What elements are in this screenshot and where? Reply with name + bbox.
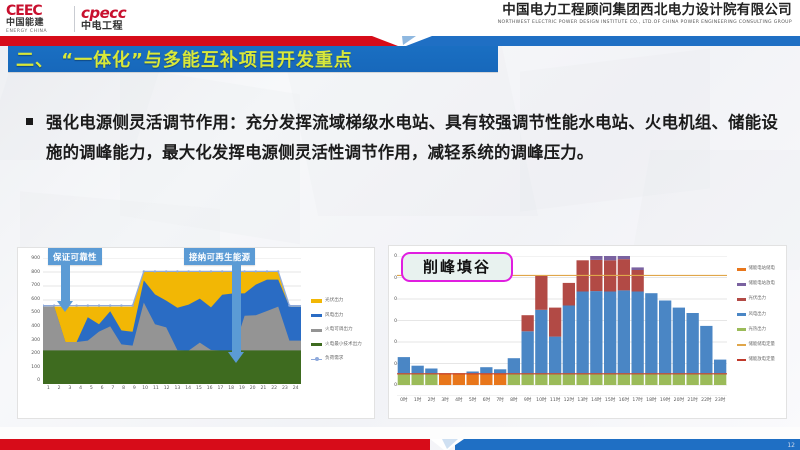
x-tick: 1时 xyxy=(411,398,425,403)
chart-left-x-axis: 1 2 3 4 5 6 7 8 9 10 11 12 13 14 15 16 1… xyxy=(43,386,301,391)
legend-item-discharge-quota: 储能放电定量 xyxy=(737,357,775,363)
x-tick: 18 xyxy=(226,386,237,391)
slide-header: CEEC 中国能建 ENERGY CHINA cpecc 中电工程 中国电力工程… xyxy=(0,0,800,40)
legend-label-charge-quota: 储能储电定量 xyxy=(749,342,775,348)
x-tick: 15 xyxy=(194,386,205,391)
x-tick: 2 xyxy=(54,386,65,391)
organization-name-en: NORTHWEST ELECTRIC POWER DESIGN INSTITUT… xyxy=(498,19,792,27)
bar-group xyxy=(439,373,451,385)
bar-group xyxy=(412,366,424,385)
callout-renewable-arrow-icon xyxy=(228,262,246,362)
x-tick: 8 xyxy=(118,386,129,391)
x-tick: 11时 xyxy=(548,398,562,403)
x-tick: 4时 xyxy=(452,398,466,403)
chart-left-plot xyxy=(43,258,301,384)
chart-right-x-axis: 0时 1时 2时 3时 4时 5时 6时 7时 8时 9时 10时 11时 12… xyxy=(397,398,727,403)
logo-group: CEEC 中国能建 ENERGY CHINA cpecc 中电工程 xyxy=(6,3,126,35)
legend-label-pv: 光伏出力 xyxy=(749,296,767,302)
x-tick: 15时 xyxy=(603,398,617,403)
x-tick: 22时 xyxy=(700,398,714,403)
cpecc-logo: cpecc 中电工程 xyxy=(81,5,126,33)
legend-item-wind: 风电出力 xyxy=(737,312,775,318)
bar-group xyxy=(659,301,671,386)
legend-item-storage-discharge: 储能电站储电 xyxy=(737,266,775,272)
page-number: 12 xyxy=(787,442,795,449)
legend-swatch-load xyxy=(311,359,322,360)
legend-item-csp: 光热出力 xyxy=(737,327,775,333)
legend-item-pv: 光伏出力 xyxy=(311,298,362,304)
callout-reliability-arrow-icon xyxy=(57,262,75,312)
bar-group xyxy=(645,293,657,385)
bar-group xyxy=(577,260,589,385)
legend-label-thermal-min: 火电最小技术出力 xyxy=(325,342,362,348)
footer-left-red xyxy=(0,439,430,450)
cpecc-logo-en: cpecc xyxy=(81,5,126,21)
x-tick: 16时 xyxy=(617,398,631,403)
x-tick: 12 xyxy=(161,386,172,391)
y-tick: 200 xyxy=(20,351,40,365)
ceec-logo-mark: CEEC xyxy=(6,3,68,18)
x-tick: 6 xyxy=(97,386,108,391)
y-tick: 0 xyxy=(385,254,397,276)
square-bullet-icon xyxy=(26,118,33,125)
legend-swatch-pv xyxy=(737,298,746,301)
ribbon-right-blue xyxy=(402,36,800,46)
x-tick: 5 xyxy=(86,386,97,391)
x-tick: 23时 xyxy=(713,398,727,403)
footer-right-blue xyxy=(455,439,800,450)
slide-footer: 12 xyxy=(0,436,800,450)
y-tick: 700 xyxy=(20,283,40,297)
legend-item-charge-quota: 储能储电定量 xyxy=(737,342,775,348)
y-tick: 500 xyxy=(20,310,40,324)
x-tick: 20时 xyxy=(672,398,686,403)
x-tick: 17 xyxy=(215,386,226,391)
x-tick: 1 xyxy=(43,386,54,391)
ribbon-left-red xyxy=(0,36,402,46)
x-tick: 23 xyxy=(280,386,291,391)
bar-group xyxy=(535,275,547,385)
chart-right-title-tag: 削峰填谷 xyxy=(401,252,513,282)
bullet-paragraph: 强化电源侧灵活调节作用：充分发挥流域梯级水电站、具有较强调节性能水电站、火电机组… xyxy=(26,108,778,168)
ceec-logo: CEEC 中国能建 ENERGY CHINA xyxy=(6,3,68,35)
bar-group xyxy=(508,358,520,385)
x-tick: 10时 xyxy=(535,398,549,403)
y-tick: 0 xyxy=(385,319,397,341)
bar-group xyxy=(425,369,437,386)
y-tick: 0 xyxy=(385,276,397,298)
x-tick: 11 xyxy=(151,386,162,391)
chart-right-y-axis: 0 0 0 0 0 0 0 xyxy=(385,254,397,405)
x-tick: 17时 xyxy=(631,398,645,403)
legend-item-thermal-min: 火电最小技术出力 xyxy=(311,342,362,348)
bar-group xyxy=(453,373,465,385)
x-tick: 13 xyxy=(172,386,183,391)
legend-label-thermal-adj: 火电可调出力 xyxy=(325,327,353,333)
legend-label-load: 负荷需求 xyxy=(325,356,343,362)
x-tick: 12时 xyxy=(562,398,576,403)
x-tick: 16 xyxy=(204,386,215,391)
x-tick: 21 xyxy=(258,386,269,391)
legend-swatch-thermal-min xyxy=(311,343,322,346)
legend-swatch-csp xyxy=(737,328,746,331)
legend-swatch-storage-peak xyxy=(737,283,746,286)
y-tick: 0 xyxy=(20,378,40,392)
x-tick: 10 xyxy=(140,386,151,391)
chart-right-legend: 储能电站储电 储能电站放电 光伏出力 风电出力 光热出力 储能储电定量 xyxy=(737,266,775,372)
legend-label-pv: 光伏出力 xyxy=(325,298,343,304)
ceec-logo-cn: 中国能建 xyxy=(6,18,68,29)
cpecc-logo-cn: 中电工程 xyxy=(81,21,126,33)
x-tick: 3时 xyxy=(438,398,452,403)
slide-canvas: CEEC 中国能建 ENERGY CHINA cpecc 中电工程 中国电力工程… xyxy=(0,0,800,450)
bar-group xyxy=(563,283,575,385)
x-tick: 3 xyxy=(65,386,76,391)
y-tick: 900 xyxy=(20,256,40,270)
bar-group xyxy=(700,326,712,385)
bar-group xyxy=(632,267,644,385)
x-tick: 19 xyxy=(237,386,248,391)
x-tick: 7时 xyxy=(493,398,507,403)
ceec-logo-en: ENERGY CHINA xyxy=(6,29,68,35)
legend-item-wind: 风电出力 xyxy=(311,313,362,319)
legend-item-storage-peak: 储能电站放电 xyxy=(737,281,775,287)
x-tick: 9 xyxy=(129,386,140,391)
legend-label-csp: 光热出力 xyxy=(749,327,767,333)
x-tick: 13时 xyxy=(576,398,590,403)
header-ribbon xyxy=(0,36,800,46)
bullet-text: 强化电源侧灵活调节作用：充分发挥流域梯级水电站、具有较强调节性能水电站、火电机组… xyxy=(46,108,778,168)
x-tick: 4 xyxy=(75,386,86,391)
bar-group xyxy=(398,357,410,385)
legend-swatch-discharge-quota xyxy=(737,359,746,361)
legend-item-pv: 光伏出力 xyxy=(737,296,775,302)
x-tick: 20 xyxy=(247,386,258,391)
section-title-bar: 二、 “一体化”与多能互补项目开发重点 xyxy=(8,46,498,72)
chart-right-peak-shaving: 削峰填谷 0 0 0 0 0 0 0 xyxy=(388,245,787,419)
legend-item-thermal-adj: 火电可调出力 xyxy=(311,327,362,333)
y-tick: 0 xyxy=(385,340,397,362)
legend-label-storage-discharge: 储能电站储电 xyxy=(749,266,775,272)
footer-notch-icon xyxy=(418,439,476,450)
legend-label-wind: 风电出力 xyxy=(749,312,767,318)
y-tick: 800 xyxy=(20,270,40,284)
organization-name-cn: 中国电力工程顾问集团西北电力设计院有限公司 xyxy=(498,2,792,19)
legend-swatch-pv xyxy=(311,299,322,302)
x-tick: 14时 xyxy=(590,398,604,403)
chart-left-y-axis: 900 800 700 600 500 400 300 200 100 0 xyxy=(20,256,40,392)
y-tick: 0 xyxy=(385,383,397,405)
x-tick: 6时 xyxy=(480,398,494,403)
series-area-thermal-min xyxy=(43,350,301,384)
logo-divider xyxy=(74,6,75,32)
legend-swatch-storage-discharge xyxy=(737,268,746,271)
x-tick: 8时 xyxy=(507,398,521,403)
y-tick: 600 xyxy=(20,297,40,311)
legend-swatch-wind xyxy=(737,313,746,316)
legend-swatch-thermal-adj xyxy=(311,329,322,332)
legend-item-load: 负荷需求 xyxy=(311,356,362,362)
y-tick: 300 xyxy=(20,338,40,352)
legend-swatch-wind xyxy=(311,314,322,317)
organization-name: 中国电力工程顾问集团西北电力设计院有限公司 NORTHWEST ELECTRIC… xyxy=(498,2,792,27)
bar-group xyxy=(494,369,506,385)
x-tick: 18时 xyxy=(645,398,659,403)
x-tick: 24 xyxy=(290,386,301,391)
x-tick: 5时 xyxy=(466,398,480,403)
bar-group xyxy=(714,360,726,385)
legend-label-wind: 风电出力 xyxy=(325,313,343,319)
legend-label-discharge-quota: 储能放电定量 xyxy=(749,357,775,363)
ribbon-notch-icon xyxy=(372,36,432,46)
y-tick: 400 xyxy=(20,324,40,338)
y-tick: 0 xyxy=(385,297,397,319)
y-tick: 0 xyxy=(385,362,397,384)
x-tick: 7 xyxy=(108,386,119,391)
bar-group xyxy=(480,367,492,385)
chart-left-legend: 光伏出力 风电出力 火电可调出力 火电最小技术出力 负荷需求 xyxy=(311,298,362,371)
bar-group xyxy=(522,315,534,385)
y-tick: 100 xyxy=(20,365,40,379)
x-tick: 14 xyxy=(183,386,194,391)
ceec-logo-letters: CEEC xyxy=(6,4,42,18)
x-tick: 22 xyxy=(269,386,280,391)
x-tick: 2时 xyxy=(425,398,439,403)
x-tick: 19时 xyxy=(658,398,672,403)
x-tick: 0时 xyxy=(397,398,411,403)
x-tick: 9时 xyxy=(521,398,535,403)
legend-swatch-charge-quota xyxy=(737,344,746,346)
page-title: 二、 “一体化”与多能互补项目开发重点 xyxy=(8,46,353,72)
legend-label-storage-peak: 储能电站放电 xyxy=(749,281,775,287)
x-tick: 21时 xyxy=(686,398,700,403)
